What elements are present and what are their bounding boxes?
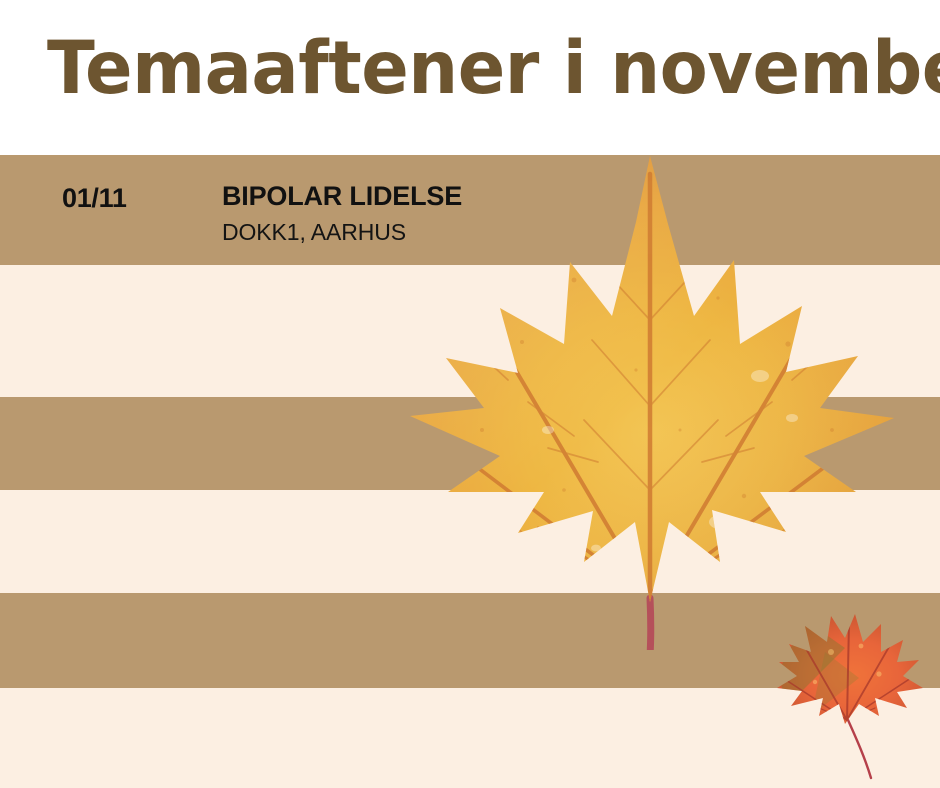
event-band-3 — [0, 397, 940, 490]
page-title: Temaaftener i november — [47, 26, 940, 112]
event-band-6 — [0, 688, 940, 788]
event-band-2 — [0, 265, 940, 397]
title-band: Temaaftener i november — [0, 0, 940, 155]
event-band-1 — [0, 155, 940, 265]
event-band-5 — [0, 593, 940, 688]
event-band-4 — [0, 490, 940, 593]
event-poster: 01/11 BIPOLAR LIDELSE DOKK1, AARHUS 06/1… — [0, 0, 940, 788]
